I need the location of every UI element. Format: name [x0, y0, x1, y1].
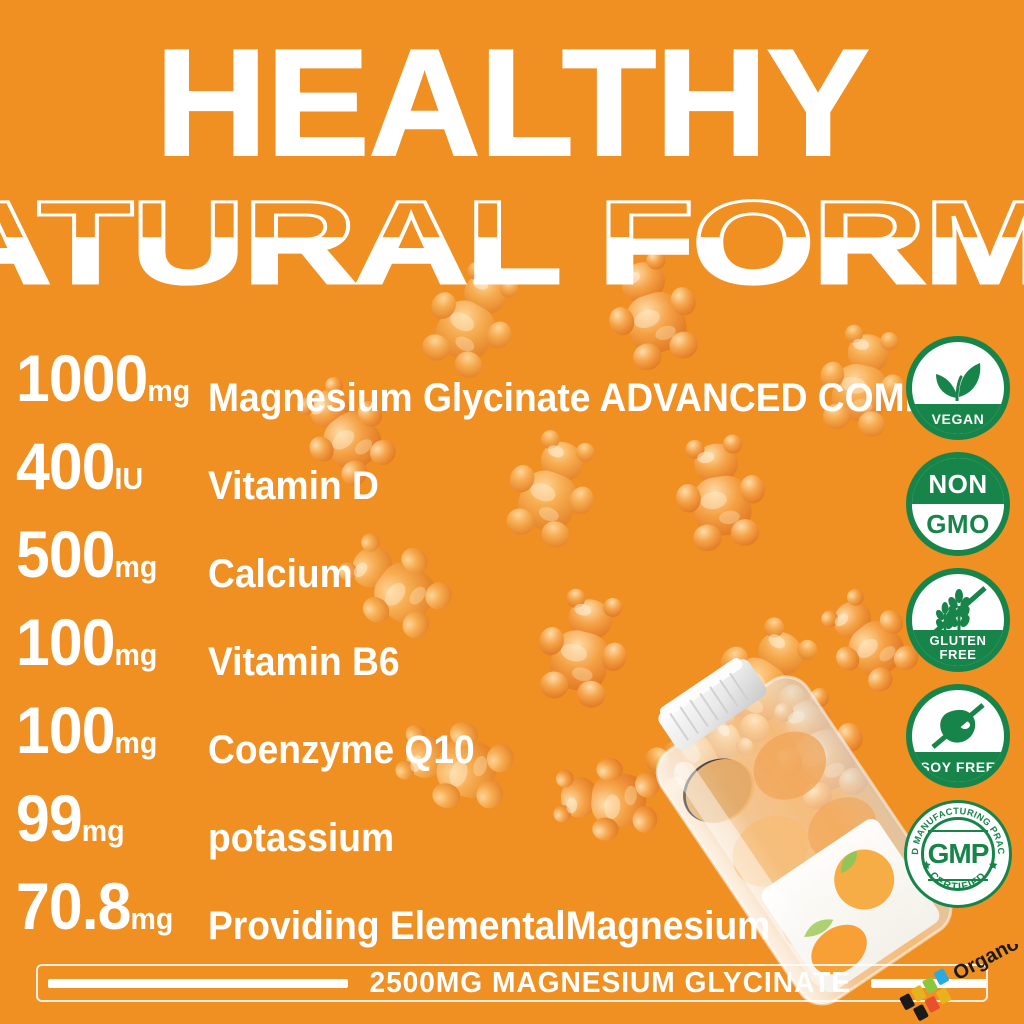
bottom-banner: 2500MG MAGNESIUM GLYCINATE [36, 964, 988, 1002]
ingredient-row: 100mg Coenzyme Q10 [16, 686, 836, 774]
badge-gluten-free-circle: GLUTEN FREE [906, 568, 1010, 672]
ingredient-name: Coenzyme Q10 [208, 730, 475, 774]
ingredient-name: Vitamin D [208, 466, 379, 510]
ingredient-amount-unit: mg [115, 637, 158, 672]
ingredient-amount-number: 99 [16, 781, 82, 855]
ingredient-amount: 100mg [16, 699, 172, 774]
badge-gluten-free-label-top: GLUTEN [929, 634, 986, 648]
ingredient-row: 1000mg Magnesium Glycinate ADVANCED COMP… [16, 334, 836, 422]
badge-vegan-label: VEGAN [912, 404, 1004, 434]
ingredient-amount-unit: mg [147, 373, 190, 408]
ingredient-amount-unit: mg [115, 549, 158, 584]
ingredient-list: 1000mg Magnesium Glycinate ADVANCED COMP… [16, 334, 836, 950]
badge-gluten-free-label-bottom: FREE [939, 648, 976, 662]
headline-block: HEALTHY NATURAL FORMULA NATURAL FORMULA [0, 0, 1024, 302]
ingredient-name: Providing ElementalMagnesium [208, 906, 770, 950]
ingredient-row: 400IU Vitamin D [16, 422, 836, 510]
ingredient-amount-number: 1000 [16, 341, 147, 415]
ingredient-amount: 70.8mg [16, 875, 172, 950]
soybean-no-icon [912, 698, 1004, 756]
ingredient-amount-unit: mg [115, 725, 158, 760]
ingredient-amount: 1000mg [16, 347, 172, 422]
badge-gmp-rule-bottom [928, 879, 988, 881]
badge-soy-free: SOY FREE [906, 684, 1010, 788]
badge-non-gmo-label-bottom: GMO [912, 504, 1004, 550]
badge-gmp: GOOD MANUFACTURING PRACITCE CERTIFIED GM… [904, 800, 1012, 908]
product-infographic: HEALTHY NATURAL FORMULA NATURAL FORMULA … [0, 0, 1024, 1024]
brand-logo: Organov [872, 944, 1022, 1022]
ingredient-amount-unit: mg [82, 813, 125, 848]
badge-gluten-free: GLUTEN FREE [906, 568, 1010, 672]
badge-vegan-circle: VEGAN [906, 336, 1010, 440]
badge-non-gmo-label-top: NON [912, 458, 1004, 504]
ingredient-name: Vitamin B6 [208, 642, 400, 686]
ingredient-name: potassium [208, 818, 394, 862]
ingredient-amount: 500mg [16, 523, 172, 598]
certification-badges: VEGAN NON GMO [902, 336, 1014, 908]
badge-soy-free-circle: SOY FREE [906, 684, 1010, 788]
leaves-icon [912, 350, 1004, 408]
ingredient-name: Magnesium Glycinate ADVANCED COMPLEX [208, 378, 1002, 422]
ingredient-amount-number: 70.8 [16, 869, 131, 943]
badge-soy-free-label: SOY FREE [912, 752, 1004, 782]
banner-rule-left [48, 979, 348, 988]
ingredient-amount: 100mg [16, 611, 172, 686]
ingredient-amount-number: 400 [16, 429, 115, 503]
badge-non-gmo-circle: NON GMO [906, 452, 1010, 556]
banner-text: 2500MG MAGNESIUM GLYCINATE [369, 967, 851, 1000]
ingredient-row: 100mg Vitamin B6 [16, 598, 836, 686]
ingredient-row: 70.8mg Providing ElementalMagnesium [16, 862, 836, 950]
badge-vegan: VEGAN [906, 336, 1010, 440]
svg-text:Organov: Organov [950, 944, 1022, 985]
ingredient-amount-unit: mg [131, 901, 174, 936]
ingredient-amount-unit: IU [115, 461, 144, 496]
ingredient-amount-number: 100 [16, 605, 115, 679]
badge-gmp-rule-top [928, 830, 988, 832]
headline-secondary: NATURAL FORMULA NATURAL FORMULA [0, 184, 1024, 302]
ingredient-row: 99mg potassium [16, 774, 836, 862]
ingredient-row: 500mg Calcium [16, 510, 836, 598]
badge-non-gmo: NON GMO [906, 452, 1010, 556]
ingredient-name: Calcium [208, 554, 353, 598]
ingredient-amount-number: 500 [16, 517, 115, 591]
badge-gluten-free-label: GLUTEN FREE [912, 630, 1004, 666]
ingredient-amount: 99mg [16, 787, 172, 862]
headline-primary: HEALTHY [0, 28, 1024, 178]
badge-gmp-label: GMP [928, 838, 989, 870]
ingredient-amount-number: 100 [16, 693, 115, 767]
ingredient-amount: 400IU [16, 435, 172, 510]
